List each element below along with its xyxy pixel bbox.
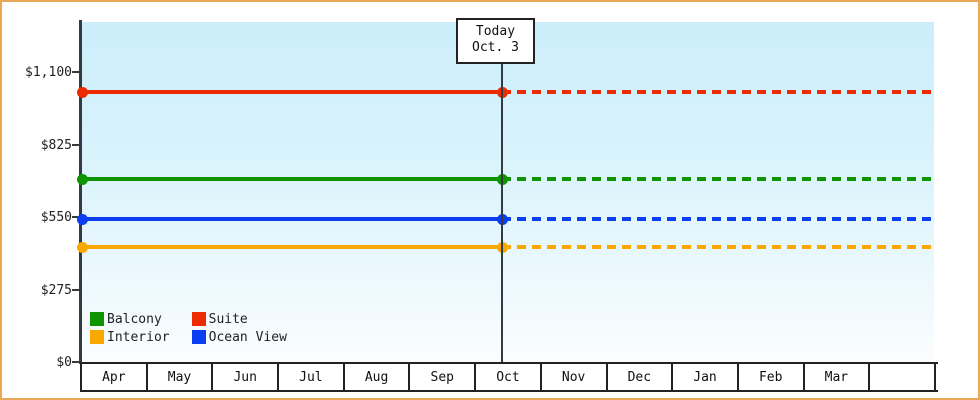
y-axis-label: $0 <box>4 356 72 369</box>
legend-label: Ocean View <box>209 331 287 344</box>
legend-swatch-icon <box>192 312 206 326</box>
x-axis-cell-empty[interactable] <box>870 364 936 390</box>
chart-legend: BalconySuiteInteriorOcean View <box>90 312 287 344</box>
legend-label: Interior <box>107 331 170 344</box>
legend-item[interactable]: Ocean View <box>192 330 287 344</box>
legend-label: Balcony <box>107 313 162 326</box>
today-label-line2: Oct. 3 <box>472 40 519 56</box>
price-history-chart: $1,100$825$550$275$0 Today Oct. 3 Balcon… <box>0 0 980 400</box>
x-axis-cell-may[interactable]: May <box>148 364 214 390</box>
series-data-point <box>77 242 88 253</box>
y-axis-label: $1,100 <box>4 66 72 79</box>
y-axis-label: $550 <box>4 211 72 224</box>
x-axis-months: AprMayJunJulAugSepOctNovDecJanFebMar <box>80 362 938 392</box>
y-axis-tick <box>72 289 80 291</box>
series-line-historical <box>82 245 502 249</box>
series-line-historical <box>82 217 502 221</box>
series-line-forecast <box>502 245 934 249</box>
x-axis-cell-jan[interactable]: Jan <box>673 364 739 390</box>
legend-label: Suite <box>209 313 248 326</box>
y-axis-labels: $1,100$825$550$275$0 <box>2 2 72 400</box>
plot-area <box>82 22 934 362</box>
y-axis-label: $825 <box>4 139 72 152</box>
series-line-forecast <box>502 217 934 221</box>
today-annotation-box: Today Oct. 3 <box>456 18 535 64</box>
x-axis-cell-mar[interactable]: Mar <box>805 364 871 390</box>
legend-swatch-icon <box>90 312 104 326</box>
legend-item[interactable]: Suite <box>192 312 287 326</box>
legend-swatch-icon <box>192 330 206 344</box>
y-axis-tick <box>72 361 80 363</box>
series-line-forecast <box>502 177 934 181</box>
legend-item[interactable]: Interior <box>90 330 170 344</box>
y-axis-label: $275 <box>4 284 72 297</box>
today-label-line1: Today <box>472 24 519 40</box>
x-axis-cell-dec[interactable]: Dec <box>608 364 674 390</box>
x-axis-cell-sep[interactable]: Sep <box>410 364 476 390</box>
legend-swatch-icon <box>90 330 104 344</box>
x-axis-cell-oct[interactable]: Oct <box>476 364 542 390</box>
series-line-historical <box>82 90 502 94</box>
series-line-historical <box>82 177 502 181</box>
series-data-point <box>77 174 88 185</box>
legend-item[interactable]: Balcony <box>90 312 170 326</box>
x-axis-cell-aug[interactable]: Aug <box>345 364 411 390</box>
y-axis-tick <box>72 144 80 146</box>
series-line-forecast <box>502 90 934 94</box>
x-axis-cell-jun[interactable]: Jun <box>213 364 279 390</box>
today-vertical-line <box>501 22 503 362</box>
series-data-point <box>77 87 88 98</box>
x-axis-cell-nov[interactable]: Nov <box>542 364 608 390</box>
x-axis-cell-feb[interactable]: Feb <box>739 364 805 390</box>
x-axis-cell-apr[interactable]: Apr <box>82 364 148 390</box>
y-axis-tick <box>72 71 80 73</box>
x-axis-cell-jul[interactable]: Jul <box>279 364 345 390</box>
